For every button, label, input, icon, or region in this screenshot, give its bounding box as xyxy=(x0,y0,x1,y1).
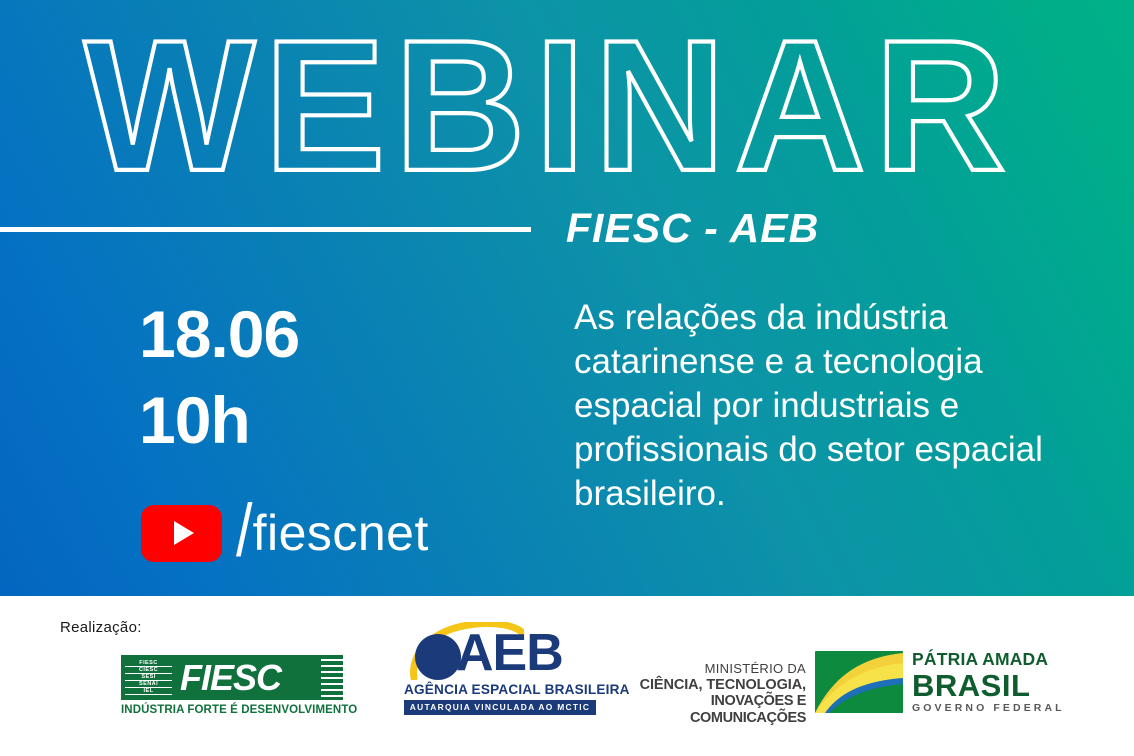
aeb-autarquia-bar: AUTARQUIA VINCULADA AO MCTIC xyxy=(404,700,596,715)
webinar-poster: WEBINAR FIESC - AEB 18.06 10h / fiescnet… xyxy=(0,0,1134,756)
governo-federal-lockup: PÁTRIA AMADA BRASIL GOVERNO FEDERAL xyxy=(815,651,1065,714)
ministry-lockup: MINISTÉRIO DA CIÊNCIA, TECNOLOGIA, INOVA… xyxy=(600,662,806,726)
patria-amada-label: PÁTRIA AMADA xyxy=(912,651,1065,669)
fiesc-tagline: INDÚSTRIA FORTE É DESENVOLVIMENTO xyxy=(121,704,343,716)
fiesc-wordmark: FIESC xyxy=(180,660,281,696)
youtube-handle: fiescnet xyxy=(253,504,429,562)
ministry-line-1: MINISTÉRIO DA xyxy=(600,662,806,677)
fiesc-stack-item: CIESC xyxy=(125,667,172,674)
fiesc-stripes-decoration xyxy=(321,655,343,700)
fiesc-logo-block: FIESC CIESC SESI SENAI IEL FIESC xyxy=(121,655,343,700)
play-triangle-icon xyxy=(174,521,194,545)
youtube-icon[interactable] xyxy=(141,505,222,562)
event-date: 18.06 xyxy=(139,303,299,366)
subtitle: FIESC - AEB xyxy=(566,205,819,252)
event-description: As relações da indústria catarinense e a… xyxy=(574,296,1094,516)
aeb-wordmark: AEB xyxy=(456,627,563,679)
event-time: 10h xyxy=(139,386,299,455)
aeb-logo-mark: AEB xyxy=(404,622,596,680)
governo-federal-label: GOVERNO FEDERAL xyxy=(912,703,1065,714)
fiesc-entity-stack: FIESC CIESC SESI SENAI IEL xyxy=(125,658,172,697)
slash-separator: / xyxy=(236,494,252,568)
brasil-label: BRASIL xyxy=(912,670,1065,702)
fiesc-stack-item: FIESC xyxy=(125,660,172,667)
ministry-line-3: INOVAÇÕES E COMUNICAÇÕES xyxy=(600,693,806,726)
ministry-line-2: CIÊNCIA, TECNOLOGIA, xyxy=(600,677,806,694)
fiesc-stack-item: SESI xyxy=(125,674,172,681)
aeb-circle-icon xyxy=(415,634,461,680)
hero-gradient-panel: WEBINAR FIESC - AEB 18.06 10h / fiescnet… xyxy=(0,0,1134,596)
fiesc-stack-item: IEL xyxy=(125,688,172,695)
fiesc-stack-item: SENAI xyxy=(125,681,172,688)
fiesc-logo: FIESC CIESC SESI SENAI IEL FIESC INDÚSTR… xyxy=(121,655,343,716)
aeb-subtitle: AGÊNCIA ESPACIAL BRASILEIRA xyxy=(404,682,596,697)
brasil-text-block: PÁTRIA AMADA BRASIL GOVERNO FEDERAL xyxy=(912,651,1065,714)
aeb-logo: AEB AGÊNCIA ESPACIAL BRASILEIRA AUTARQUI… xyxy=(404,622,596,715)
brasil-flag-icon xyxy=(815,651,903,713)
youtube-channel-link[interactable]: / fiescnet xyxy=(141,498,429,568)
event-datetime: 18.06 10h xyxy=(139,303,299,455)
page-title: WEBINAR xyxy=(84,13,1015,200)
realizacao-label: Realização: xyxy=(60,619,142,636)
title-divider-rule xyxy=(0,227,531,232)
